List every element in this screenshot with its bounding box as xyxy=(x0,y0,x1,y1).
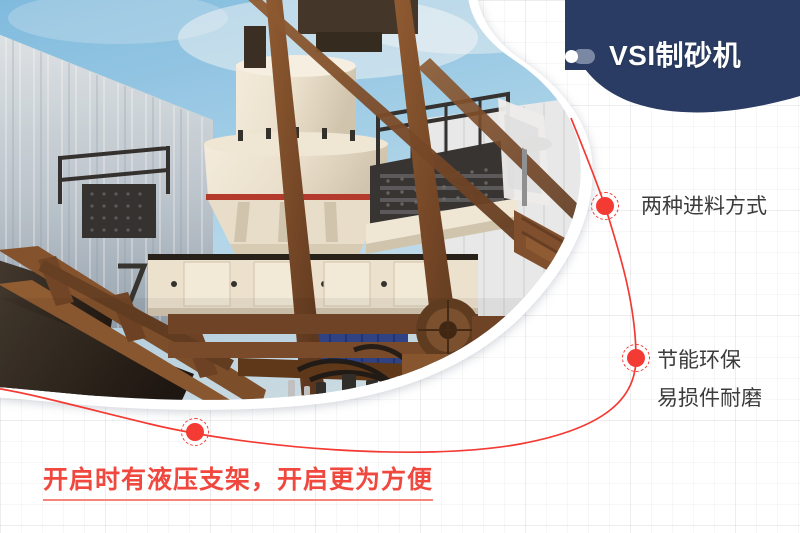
node-hydraulic-bracket[interactable] xyxy=(186,423,204,441)
feature-label-two-feed-modes: 两种进料方式 xyxy=(641,191,767,224)
bullet-pill-dot-icon xyxy=(565,49,595,64)
feature-label-energy-saving: 节能环保 xyxy=(657,345,741,378)
banner-caption: 开启时有液压支架，开启更为方便 xyxy=(43,467,433,501)
page-title: VSI制砂机 xyxy=(609,42,741,70)
connector-curves xyxy=(0,0,800,533)
banner-title: VSI制砂机 xyxy=(565,42,741,70)
node-two-feed-modes[interactable] xyxy=(596,197,614,215)
vsi-product-banner: VSI制砂机 两种进料方式 节能环保 易损件耐磨 开启时有液压支架，开启更为方便 xyxy=(0,0,800,533)
feature-label-wear-parts: 易损件耐磨 xyxy=(657,383,762,416)
node-energy-saving[interactable] xyxy=(627,349,645,367)
